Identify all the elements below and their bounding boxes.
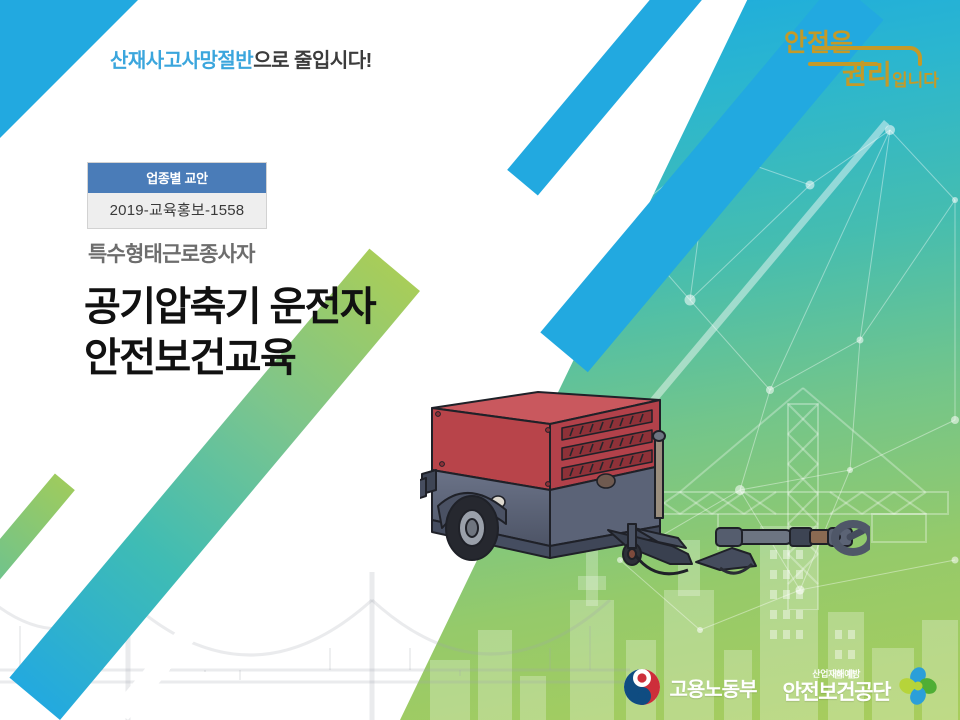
slogan-highlight: 산재사고사망절반 <box>110 50 253 72</box>
title-line-1: 공기압축기 운전자 <box>84 282 375 333</box>
cyan-stripe-secondary <box>507 0 730 196</box>
kosha-logo: 산업재해예방 안전보건공단 <box>782 666 938 706</box>
emblem-line3: 입니다 <box>892 71 939 90</box>
document-badge: 업종별 교안 2019-교육홍보-1558 <box>88 163 266 228</box>
footer-logos: 고용노동부 산업재해예방 안전보건공단 <box>623 666 938 706</box>
safety-is-a-right-emblem: 안전은 권리 입니다 <box>780 18 940 96</box>
slogan-rest: 으로 줄입시다! <box>253 50 372 72</box>
kosha-pinwheel-icon <box>898 666 938 706</box>
title-eyebrow: 특수형태근로종사자 <box>88 238 255 268</box>
air-compressor-illustration <box>420 378 870 588</box>
taegeuk-icon <box>623 668 661 706</box>
title-line-2: 안전보건교육 <box>84 333 375 384</box>
page-title: 공기압축기 운전자 안전보건교육 <box>84 282 375 384</box>
gradient-ribbon-small <box>0 473 75 720</box>
campaign-slogan: 산재사고사망절반으로 줄입시다! <box>110 44 372 73</box>
emblem-line2: 권리 <box>842 60 892 90</box>
badge-header-label: 업종별 교안 <box>88 163 266 193</box>
ministry-of-employment-and-labor-logo: 고용노동부 <box>623 668 756 706</box>
badge-document-code: 2019-교육홍보-1558 <box>88 193 266 228</box>
ministry-label: 고용노동부 <box>669 673 756 702</box>
kosha-wordmark: 산업재해예방 안전보건공단 <box>782 670 890 703</box>
slide-cover: 산재사고사망절반으로 줄입시다! 안전은 권리 입니다 업종별 교안 2019-… <box>0 0 960 720</box>
kosha-label: 안전보건공단 <box>782 682 890 703</box>
emblem-line1: 안전은 <box>784 29 853 57</box>
kosha-tagline: 산업재해예방 <box>812 670 860 679</box>
gradient-panel-right <box>400 0 960 720</box>
